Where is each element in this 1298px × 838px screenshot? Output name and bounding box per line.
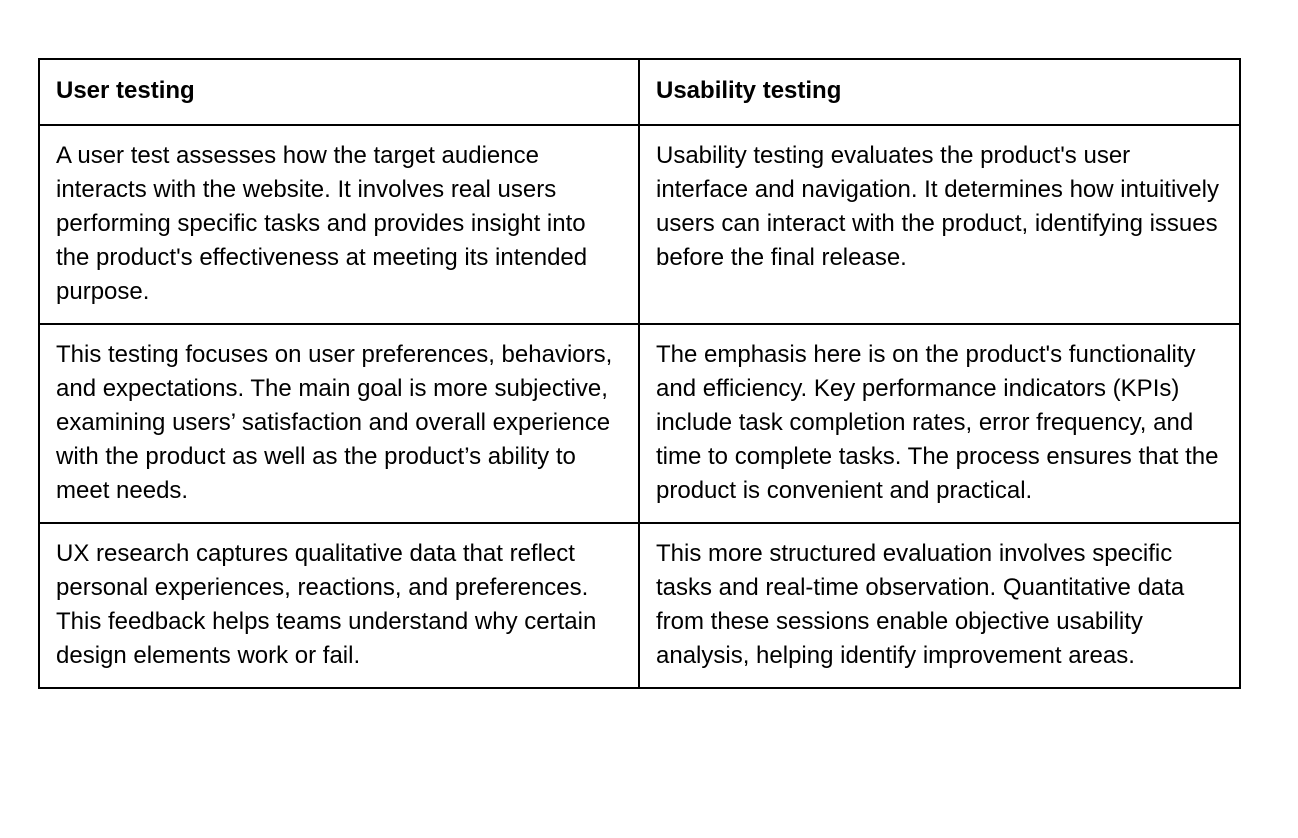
- cell-text: UX research captures qualitative data th…: [56, 537, 622, 673]
- table-row: UX research captures qualitative data th…: [39, 523, 1240, 688]
- cell-user-testing-focus: This testing focuses on user preferences…: [39, 324, 639, 523]
- column-header-user-testing: User testing: [39, 59, 639, 125]
- cell-text: This testing focuses on user preferences…: [56, 338, 622, 508]
- user-vs-usability-testing-table: User testing Usability testing A user te…: [38, 58, 1241, 689]
- table-row: A user test assesses how the target audi…: [39, 125, 1240, 324]
- cell-text: This more structured evaluation involves…: [656, 537, 1223, 673]
- table-header-row: User testing Usability testing: [39, 59, 1240, 125]
- page-canvas: User testing Usability testing A user te…: [0, 0, 1298, 838]
- table-row: This testing focuses on user preferences…: [39, 324, 1240, 523]
- cell-text: The emphasis here is on the product's fu…: [656, 338, 1223, 508]
- cell-text: Usability testing evaluates the product'…: [656, 139, 1223, 275]
- cell-user-testing-data: UX research captures qualitative data th…: [39, 523, 639, 688]
- table-header: User testing Usability testing: [39, 59, 1240, 125]
- cell-usability-testing-focus: The emphasis here is on the product's fu…: [639, 324, 1240, 523]
- column-header-usability-testing-label: Usability testing: [656, 74, 1223, 108]
- column-header-user-testing-label: User testing: [56, 74, 622, 108]
- table-body: A user test assesses how the target audi…: [39, 125, 1240, 688]
- cell-user-testing-definition: A user test assesses how the target audi…: [39, 125, 639, 324]
- cell-usability-testing-data: This more structured evaluation involves…: [639, 523, 1240, 688]
- cell-usability-testing-definition: Usability testing evaluates the product'…: [639, 125, 1240, 324]
- column-header-usability-testing: Usability testing: [639, 59, 1240, 125]
- cell-text: A user test assesses how the target audi…: [56, 139, 622, 309]
